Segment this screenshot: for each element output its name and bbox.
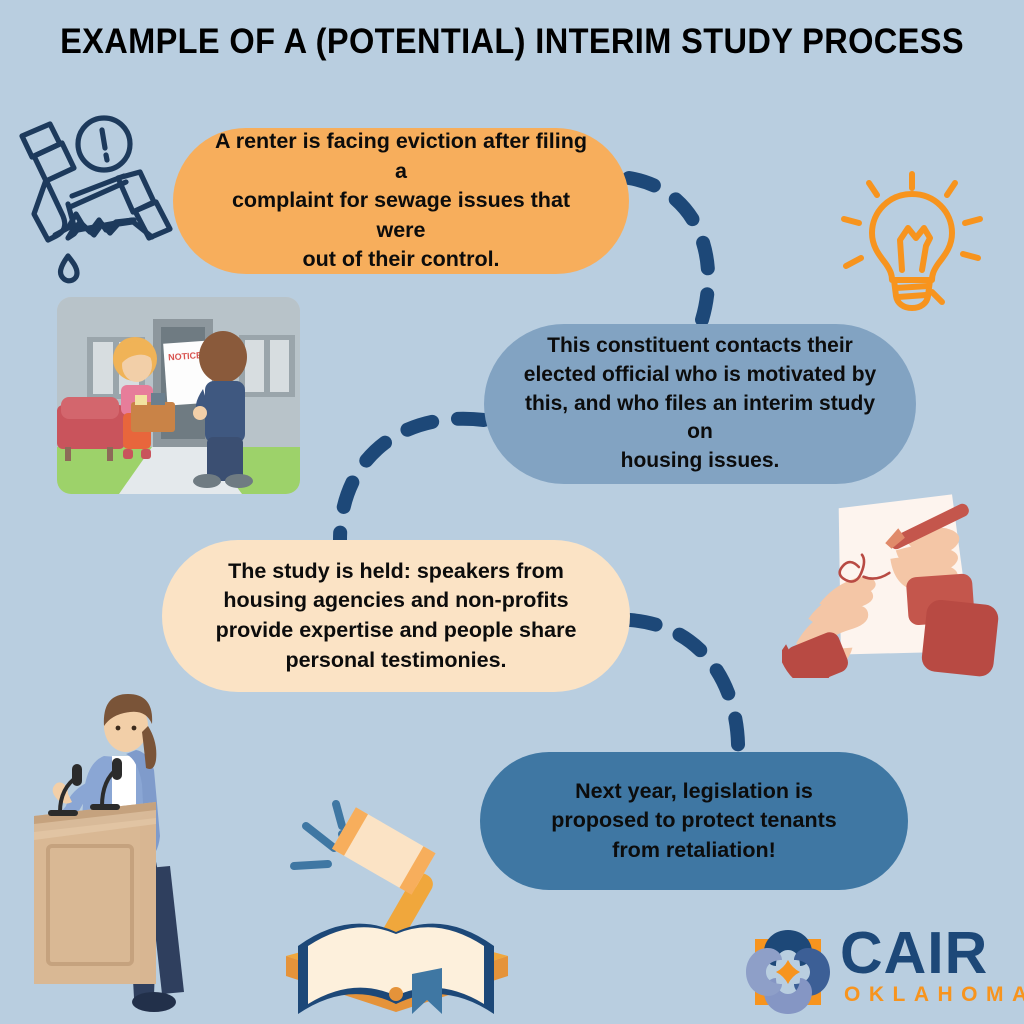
step-3-line-3: provide expertise and people share	[216, 616, 577, 646]
step-1-line-3: out of their control.	[207, 245, 595, 275]
step-card-3: The study is held: speakers from housing…	[162, 540, 630, 692]
logo-wordmark: CAIR	[840, 924, 988, 983]
step-2-line-4: housing issues.	[510, 447, 890, 476]
infographic-canvas: EXAMPLE OF A (POTENTIAL) INTERIM STUDY P…	[0, 0, 1024, 1024]
step-3-line-2: housing agencies and non-profits	[216, 586, 577, 616]
step-3-text: The study is held: speakers from housing…	[216, 557, 577, 676]
step-card-4: Next year, legislation is proposed to pr…	[480, 752, 908, 890]
step-4-line-1: Next year, legislation is	[551, 777, 836, 807]
step-2-line-1: This constituent contacts their	[510, 332, 890, 361]
step-1-line-1: A renter is facing eviction after filing…	[207, 127, 595, 186]
step-4-line-3: from retaliation!	[551, 836, 836, 866]
logo-subtitle: OKLAHOMA	[844, 984, 1024, 1005]
step-3-line-4: personal testimonies.	[216, 646, 577, 676]
step-1-line-2: complaint for sewage issues that were	[207, 186, 595, 245]
step-2-text: This constituent contacts their elected …	[510, 332, 890, 477]
step-4-text: Next year, legislation is proposed to pr…	[551, 777, 836, 866]
step-3-line-1: The study is held: speakers from	[216, 557, 577, 587]
step-2-line-2: elected official who is motivated by	[510, 361, 890, 390]
step-card-1: A renter is facing eviction after filing…	[173, 128, 629, 274]
cair-oklahoma-logo: CAIR OKLAHOMA	[742, 922, 1024, 1018]
step-1-text: A renter is facing eviction after filing…	[207, 127, 595, 275]
cair-flower-mark-icon	[742, 926, 834, 1018]
step-card-2: This constituent contacts their elected …	[484, 324, 916, 484]
step-2-line-3: this, and who files an interim study on	[510, 390, 890, 448]
step-4-line-2: proposed to protect tenants	[551, 806, 836, 836]
